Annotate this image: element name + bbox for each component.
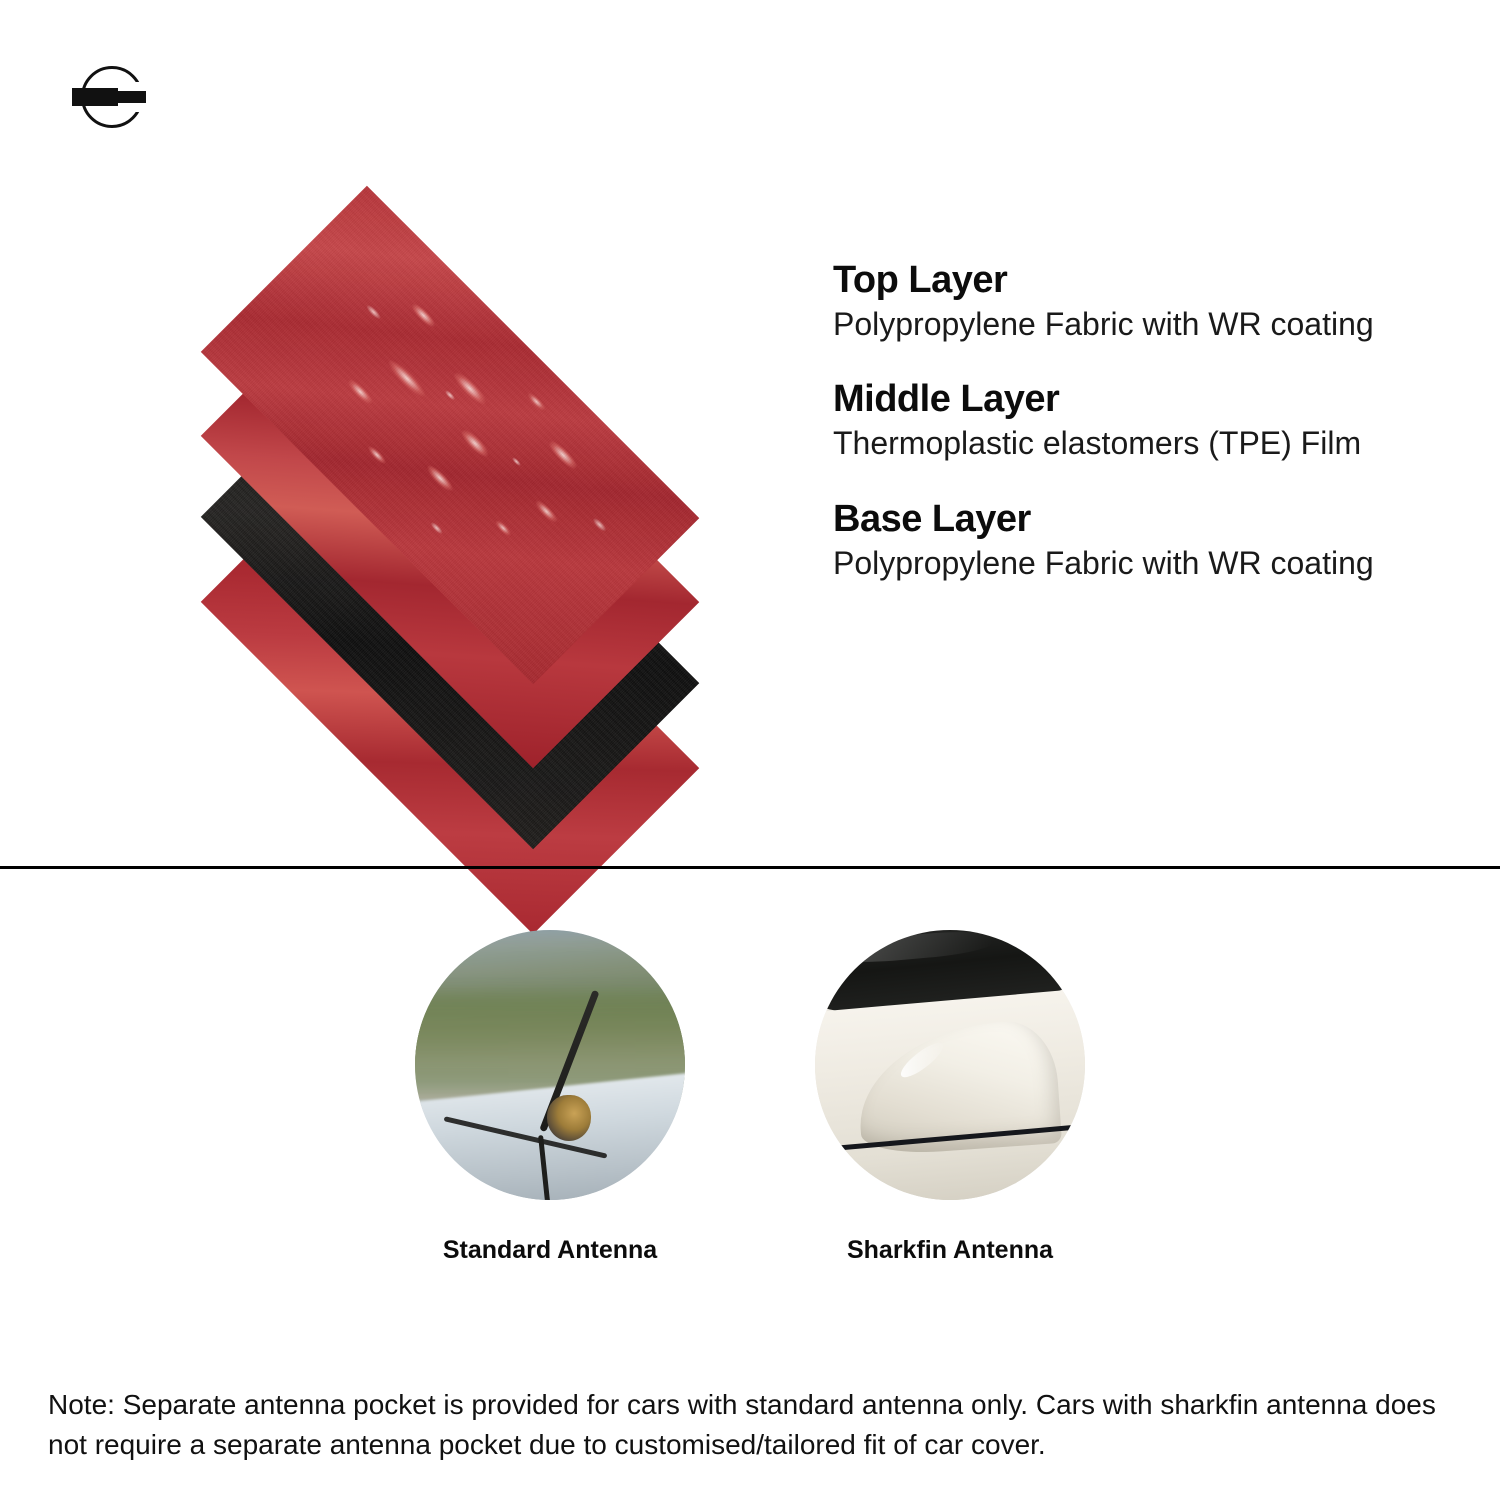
antenna-caption-standard: Standard Antenna [443,1236,657,1265]
legend-item-base-layer: Base Layer Polypropylene Fabric with WR … [833,499,1453,582]
legend-item-top-layer: Top Layer Polypropylene Fabric with WR c… [833,260,1453,343]
logo-notch-bottom-shape [118,103,152,112]
standard-antenna-photo [415,930,685,1200]
antenna-row: Standard Antenna Sharkfin Antenna [0,930,1500,1265]
legend-title-middle-layer: Middle Layer [833,379,1453,420]
legend-item-middle-layer: Middle Layer Thermoplastic elastomers (T… [833,379,1453,462]
fabric-layer-stack-diagram [100,200,800,760]
infographic-page: Top Layer Polypropylene Fabric with WR c… [0,0,1500,1500]
antenna-base-knob-shape [547,1095,591,1141]
car-roof-shape [415,1069,685,1200]
antenna-caption-sharkfin: Sharkfin Antenna [847,1236,1053,1265]
background-hill-lower-shape [415,995,685,1076]
layer-legend: Top Layer Polypropylene Fabric with WR c… [833,260,1453,582]
note-text: Note: Separate antenna pocket is provide… [48,1385,1460,1465]
section-divider [0,866,1500,869]
antenna-card-sharkfin: Sharkfin Antenna [805,930,1095,1265]
logo-notch-top-shape [118,82,152,91]
circle-bar-logo-icon [72,62,158,148]
sharkfin-antenna-photo [815,930,1085,1200]
antenna-card-standard: Standard Antenna [405,930,695,1265]
legend-desc-top-layer: Polypropylene Fabric with WR coating [833,305,1453,343]
legend-title-base-layer: Base Layer [833,499,1453,540]
legend-title-top-layer: Top Layer [833,260,1453,301]
legend-desc-base-layer: Polypropylene Fabric with WR coating [833,544,1453,582]
antenna-section: Standard Antenna Sharkfin Antenna [0,900,1500,1330]
legend-desc-middle-layer: Thermoplastic elastomers (TPE) Film [833,424,1453,462]
layers-section: Top Layer Polypropylene Fabric with WR c… [0,180,1500,850]
